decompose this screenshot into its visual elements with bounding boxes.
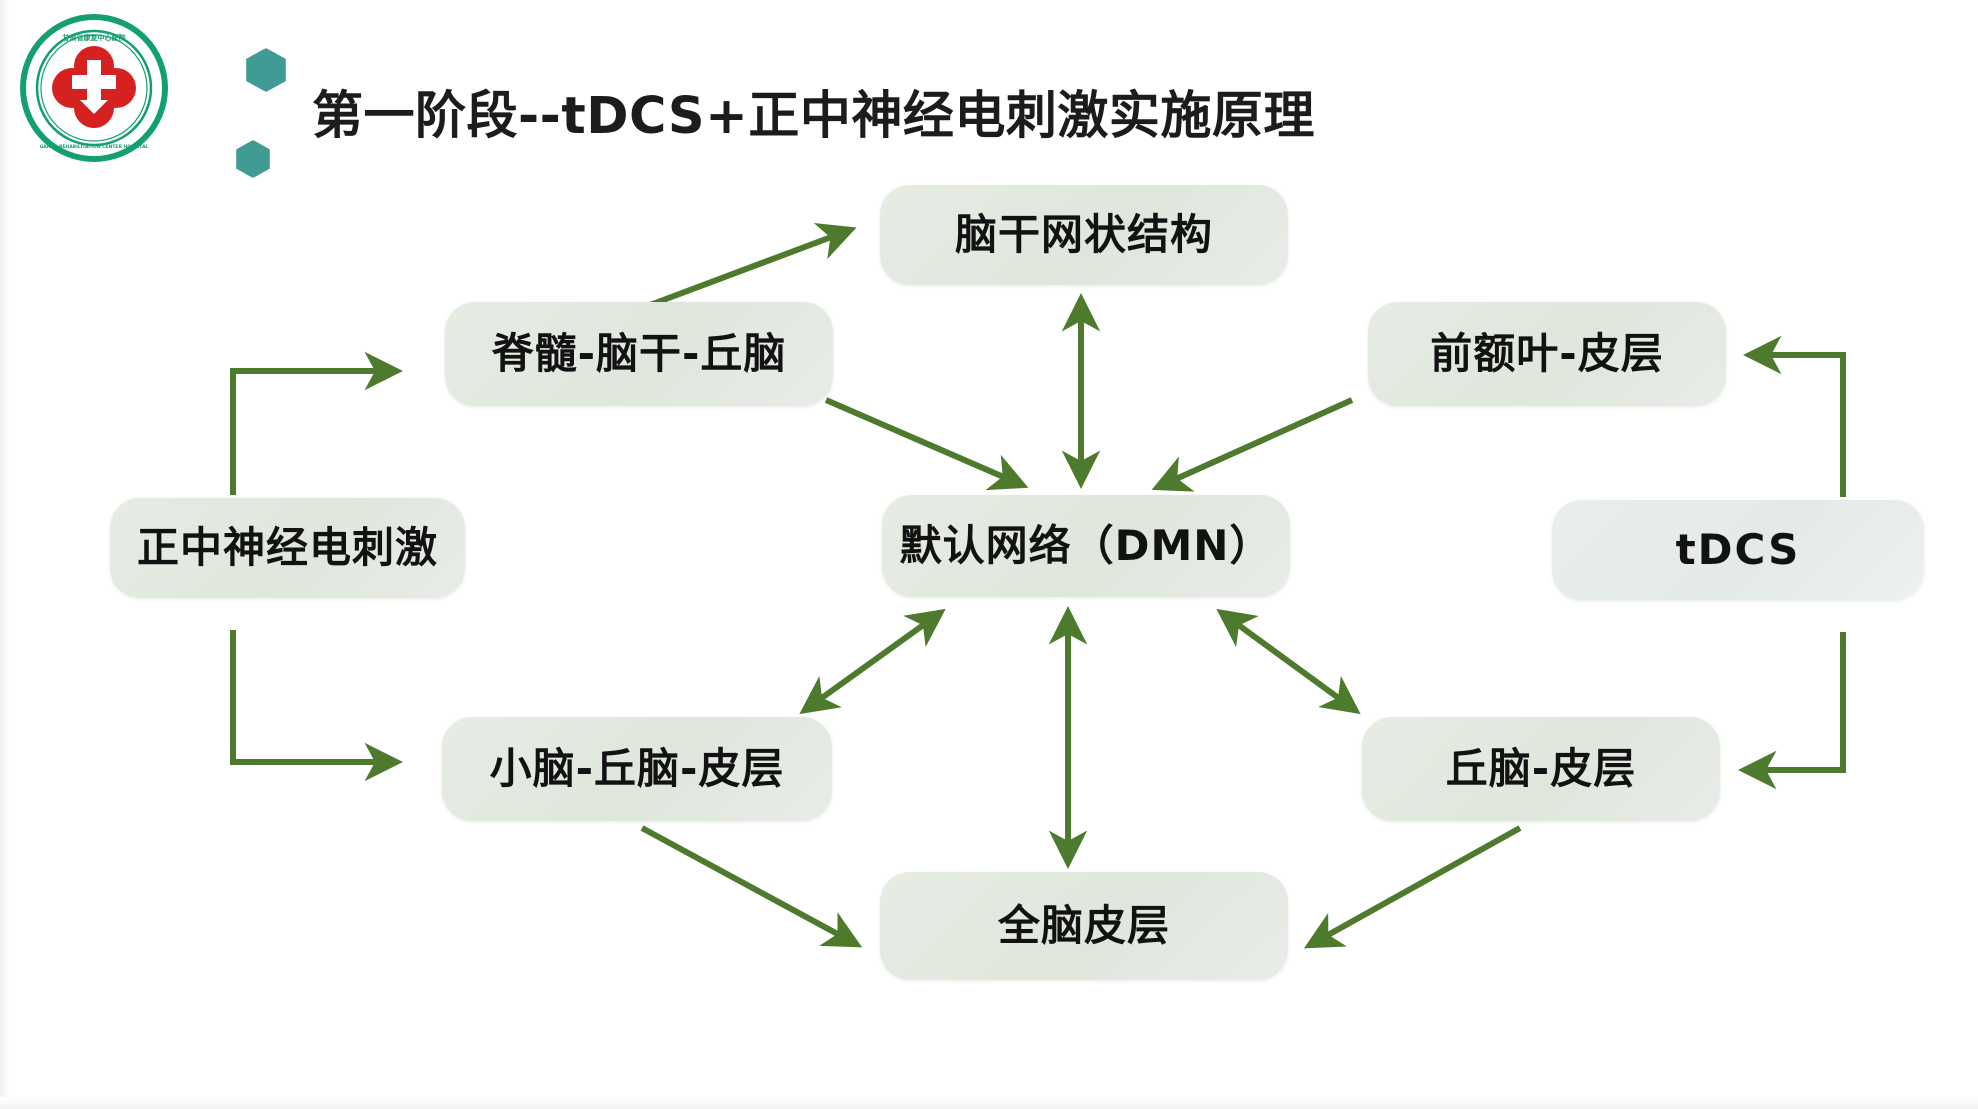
hexagon-decor-small <box>236 140 270 178</box>
edge-thalamus-to-wholectx <box>1310 828 1520 945</box>
edge-tdcs-to-thalamus <box>1745 632 1843 770</box>
node-tdcs[interactable]: tDCS <box>1552 500 1924 600</box>
svg-text:甘肃省康复中心医院: 甘肃省康复中心医院 <box>63 33 126 42</box>
node-prefrontal-cortex[interactable]: 前额叶-皮层 <box>1368 302 1726 406</box>
edge-cerebellum-dmn <box>805 613 940 710</box>
edge-mns-to-spinal <box>233 371 396 495</box>
node-spinal-brainstem-thalamus[interactable]: 脊髓-脑干-丘脑 <box>445 302 833 406</box>
node-brainstem-reticular-formation[interactable]: 脑干网状结构 <box>880 185 1288 285</box>
hospital-logo: 甘肃省康复中心医院 GANSU REHABILITATION CENTER HO… <box>14 8 174 168</box>
edge-tdcs-to-prefrontal <box>1750 355 1843 497</box>
node-whole-brain-cortex[interactable]: 全脑皮层 <box>880 872 1288 980</box>
hexagon-decor-large <box>246 48 286 92</box>
edge-prefrontal-to-dmn <box>1158 400 1352 487</box>
edge-spinal-to-dmn <box>826 400 1022 485</box>
edge-mns-to-cerebellum <box>233 630 396 762</box>
page-edge-left <box>0 0 10 1109</box>
edge-thalamus-dmn <box>1222 613 1355 710</box>
edge-cerebellum-to-wholectx <box>642 828 856 944</box>
node-thalamus-cortex[interactable]: 丘脑-皮层 <box>1362 717 1720 821</box>
slide-title: 第一阶段--tDCS+正中神经电刺激实施原理 <box>312 74 1315 148</box>
node-default-mode-network[interactable]: 默认网络（DMN） <box>882 495 1290 597</box>
slide-canvas: 甘肃省康复中心医院 GANSU REHABILITATION CENTER HO… <box>0 0 1978 1109</box>
edge-spinal-to-brainstem <box>650 230 850 305</box>
page-edge-bottom <box>0 1097 1978 1109</box>
svg-text:GANSU REHABILITATION CENTER HO: GANSU REHABILITATION CENTER HOSPITAL <box>40 144 149 150</box>
node-cerebellum-thalamus-cortex[interactable]: 小脑-丘脑-皮层 <box>442 717 832 821</box>
node-mns[interactable]: 正中神经电刺激 <box>110 498 465 598</box>
